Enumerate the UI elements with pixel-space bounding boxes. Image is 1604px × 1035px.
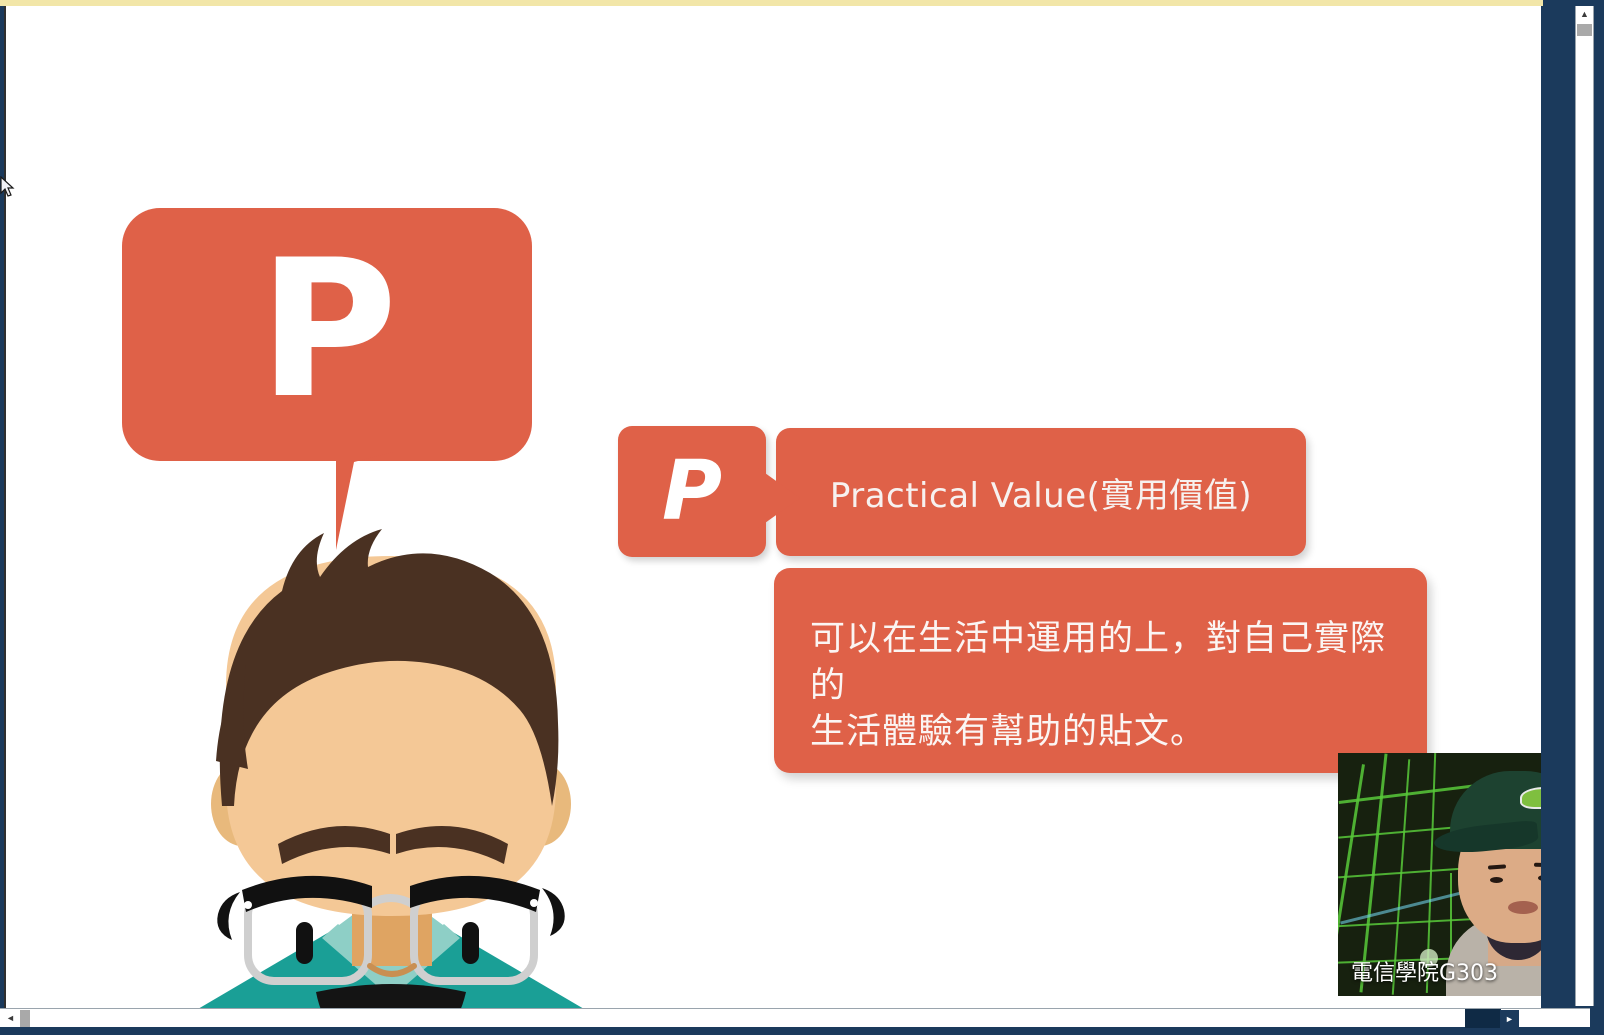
video-person-brow-right: [1534, 863, 1541, 868]
speech-bubble-letter: P: [122, 208, 532, 461]
speech-bubble: P: [122, 208, 532, 461]
vertical-scrollbar-thumb[interactable]: [1577, 24, 1592, 36]
participant-video-tile[interactable]: 電信學院G303: [1338, 753, 1541, 996]
title-row: P Practical Value(實用價值): [618, 426, 1308, 561]
slide-canvas: P: [4, 6, 1541, 1016]
title-bar: Practical Value(實用價值): [776, 428, 1306, 556]
title-badge: P: [618, 426, 766, 557]
horizontal-scrollbar-track-end: [1465, 1009, 1501, 1028]
body-text-line-2: 生活體驗有幫助的貼文。: [810, 709, 1395, 756]
character-eye-left: [296, 922, 313, 964]
body-card: 可以在生活中運用的上，對自己實際的 生活體驗有幫助的貼文。: [774, 568, 1427, 773]
vertical-scrollbar[interactable]: ▲: [1575, 6, 1594, 1006]
scroll-up-button[interactable]: ▲: [1576, 6, 1593, 23]
title-badge-letter: P: [618, 426, 766, 557]
video-person-eye-left: [1490, 877, 1503, 883]
chevron-up-icon: ▲: [1580, 10, 1589, 19]
window-right-edge: [1594, 0, 1604, 1035]
body-text-line-1: 可以在生活中運用的上，對自己實際的: [810, 616, 1395, 709]
body-text: 可以在生活中運用的上，對自己實際的 生活體驗有幫助的貼文。: [810, 616, 1395, 756]
participant-name-label: 電信學院G303: [1351, 955, 1498, 987]
title-text: Practical Value(實用價值): [830, 468, 1252, 517]
chevron-left-icon: ◄: [6, 1014, 15, 1023]
video-person-mouth: [1508, 901, 1538, 914]
character-eye-right: [462, 922, 479, 964]
chevron-right-icon: ►: [1505, 1015, 1514, 1024]
window-bottom-edge: [0, 1027, 1604, 1035]
title-connector-notch-icon: [758, 468, 800, 528]
horizontal-scrollbar-thumb[interactable]: [20, 1010, 30, 1027]
cartoon-character-illustration: [156, 506, 626, 1016]
presentation-window: P: [0, 0, 1604, 1035]
horizontal-scrollbar[interactable]: ◄ ►: [0, 1008, 1590, 1027]
scroll-right-button[interactable]: ►: [1500, 1010, 1519, 1028]
scroll-left-button[interactable]: ◄: [2, 1010, 19, 1027]
